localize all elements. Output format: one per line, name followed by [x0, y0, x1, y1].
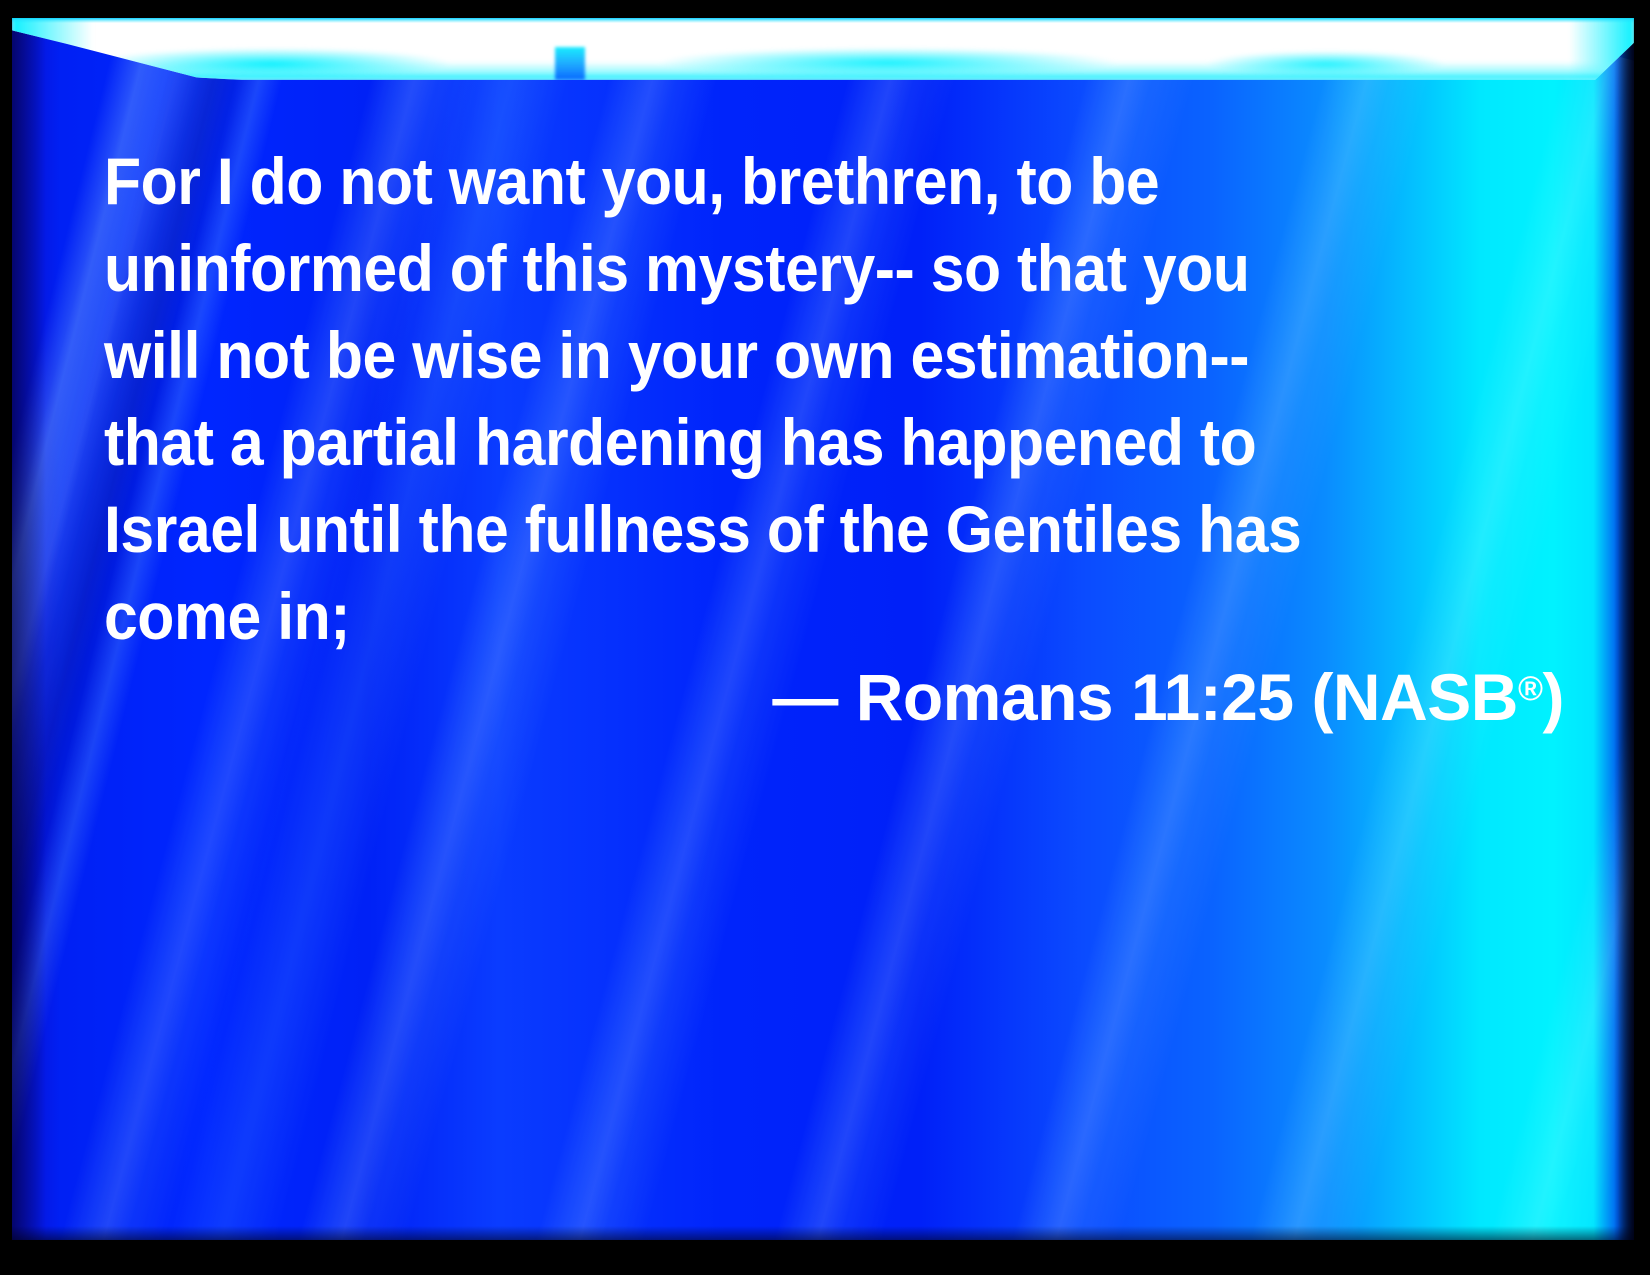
attribution-paren-close: )	[1543, 660, 1564, 734]
banner-top-edge	[12, 18, 1634, 23]
banner-center-notch	[555, 47, 585, 80]
attribution-translation: (NASB	[1311, 660, 1518, 734]
verse-text-block: For I do not want you, brethren, to be u…	[104, 138, 1544, 660]
attribution-chapter-verse: 11:25	[1131, 660, 1294, 734]
slide-canvas: For I do not want you, brethren, to be u…	[12, 18, 1634, 1240]
verse-line-5: Israel until the fullness of the Gentile…	[104, 486, 1429, 573]
verse-line-1: For I do not want you, brethren, to be	[104, 138, 1429, 225]
top-highlight-banner	[12, 18, 1634, 80]
verse-attribution: — Romans 11:25 (NASB®)	[104, 646, 1564, 741]
verse-line-4: that a partial hardening has happened to	[104, 399, 1429, 486]
scripture-slide: For I do not want you, brethren, to be u…	[0, 0, 1650, 1275]
verse-line-3: will not be wise in your own estimation-…	[104, 312, 1429, 399]
attribution-em-dash: —	[772, 660, 838, 734]
banner-cyan-glow	[12, 18, 1634, 80]
registered-trademark-icon: ®	[1518, 670, 1543, 708]
verse-line-2: uninformed of this mystery-- so that you	[104, 225, 1429, 312]
attribution-book: Romans	[856, 660, 1113, 734]
